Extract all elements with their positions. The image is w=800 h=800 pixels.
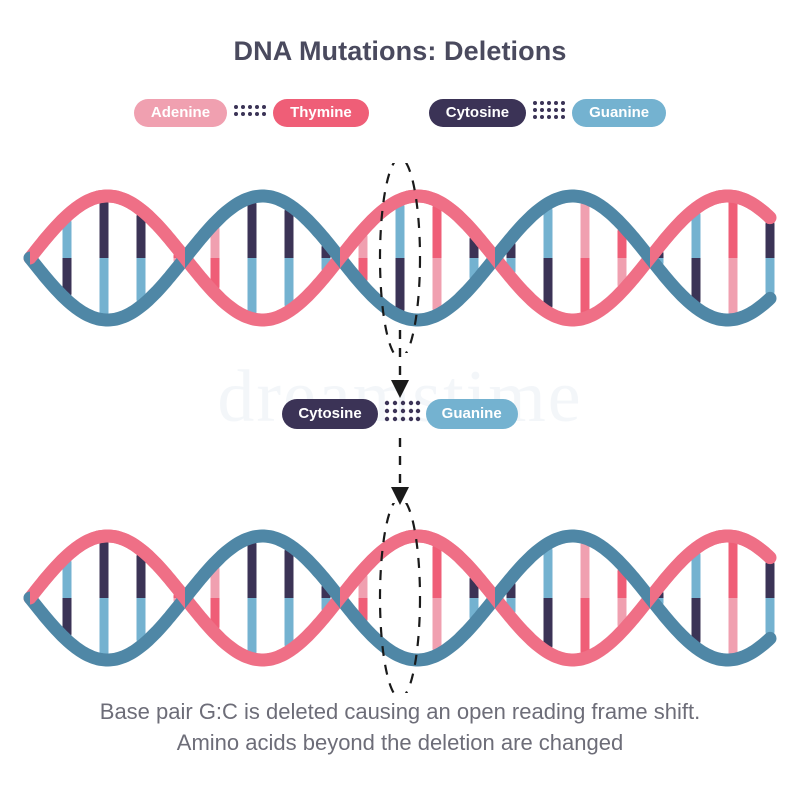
diagram-canvas: DNA Mutations: Deletions Adenine Thymine… bbox=[0, 0, 800, 800]
hydrogen-bond-dots-3-middle bbox=[383, 396, 421, 431]
nucleotide-cytosine bbox=[766, 560, 775, 598]
page-title: DNA Mutations: Deletions bbox=[0, 36, 800, 67]
nucleotide-thymine bbox=[433, 543, 442, 598]
base-pair-rung bbox=[100, 198, 109, 318]
base-pair-rung bbox=[137, 552, 146, 644]
nucleotide-adenine bbox=[581, 540, 590, 598]
base-pair-rung bbox=[285, 547, 294, 650]
caption-line-1: Base pair G:C is deleted causing an open… bbox=[0, 696, 800, 727]
deleted-base-pair: Cytosine Guanine bbox=[0, 396, 800, 431]
nucleotide-guanine bbox=[766, 258, 775, 296]
base-pair-rung bbox=[100, 538, 109, 658]
base-pair-rung bbox=[433, 203, 442, 313]
legend-pair-cytosine-guanine: Cytosine Guanine bbox=[429, 97, 666, 128]
dna-helix-original bbox=[0, 163, 800, 353]
hydrogen-bond-dots-2 bbox=[233, 98, 267, 127]
nucleotide-guanine bbox=[100, 258, 109, 318]
nucleotide-adenine bbox=[433, 598, 442, 653]
nucleotide-adenine bbox=[581, 200, 590, 258]
legend-pill-adenine: Adenine bbox=[134, 99, 227, 127]
nucleotide-thymine bbox=[581, 258, 590, 316]
base-pair-rung bbox=[433, 543, 442, 653]
nucleotide-guanine bbox=[248, 598, 257, 657]
legend-pill-thymine: Thymine bbox=[273, 99, 369, 127]
base-pair-rung bbox=[544, 205, 553, 310]
hydrogen-bond-dots-3 bbox=[532, 97, 566, 128]
legend-pill-guanine: Guanine bbox=[572, 99, 666, 127]
nucleotide-cytosine bbox=[248, 199, 257, 258]
nucleotide-guanine bbox=[396, 202, 405, 258]
base-pair-rung bbox=[544, 545, 553, 650]
nucleotide-thymine bbox=[729, 538, 738, 598]
arrowhead-down-2 bbox=[391, 487, 409, 505]
nucleotide-cytosine bbox=[766, 220, 775, 258]
nucleotide-cytosine bbox=[100, 198, 109, 258]
base-pair-rung bbox=[766, 560, 775, 637]
base-pair-rung bbox=[396, 202, 405, 314]
deleted-pill-cytosine: Cytosine bbox=[282, 399, 377, 429]
base-pair-rung bbox=[692, 210, 701, 306]
nucleotide-adenine bbox=[729, 598, 738, 658]
base-pair-rung bbox=[729, 538, 738, 657]
base-pair-rung bbox=[63, 218, 72, 299]
caption-line-2: Amino acids beyond the deletion are chan… bbox=[0, 727, 800, 758]
base-pair-rung bbox=[766, 220, 775, 297]
base-pair-rung bbox=[692, 550, 701, 646]
base-pair-rung bbox=[63, 558, 72, 639]
caption: Base pair G:C is deleted causing an open… bbox=[0, 696, 800, 758]
nucleotide-thymine bbox=[729, 198, 738, 258]
base-pair-rung bbox=[729, 198, 738, 317]
deleted-pill-guanine: Guanine bbox=[426, 399, 518, 429]
nucleotide-adenine bbox=[433, 258, 442, 313]
nucleotide-guanine bbox=[766, 598, 775, 636]
legend: Adenine Thymine Cytosine bbox=[0, 97, 800, 128]
nucleotide-cytosine bbox=[248, 539, 257, 598]
base-pair-rung bbox=[248, 539, 257, 656]
dna-helix-mutated bbox=[0, 503, 800, 693]
nucleotide-cytosine bbox=[100, 538, 109, 598]
nucleotide-thymine bbox=[433, 203, 442, 258]
base-pair-rung bbox=[581, 540, 590, 656]
base-pair-rung bbox=[285, 207, 294, 310]
nucleotide-thymine bbox=[581, 598, 590, 656]
nucleotide-guanine bbox=[100, 598, 109, 658]
legend-pair-adenine-thymine: Adenine Thymine bbox=[134, 98, 369, 127]
nucleotide-cytosine bbox=[396, 258, 405, 314]
nucleotide-adenine bbox=[729, 258, 738, 318]
nucleotide-guanine bbox=[248, 258, 257, 317]
base-pair-rung bbox=[248, 199, 257, 316]
legend-pill-cytosine: Cytosine bbox=[429, 99, 526, 127]
base-pair-rung bbox=[137, 212, 146, 304]
base-pair-rung bbox=[581, 200, 590, 316]
